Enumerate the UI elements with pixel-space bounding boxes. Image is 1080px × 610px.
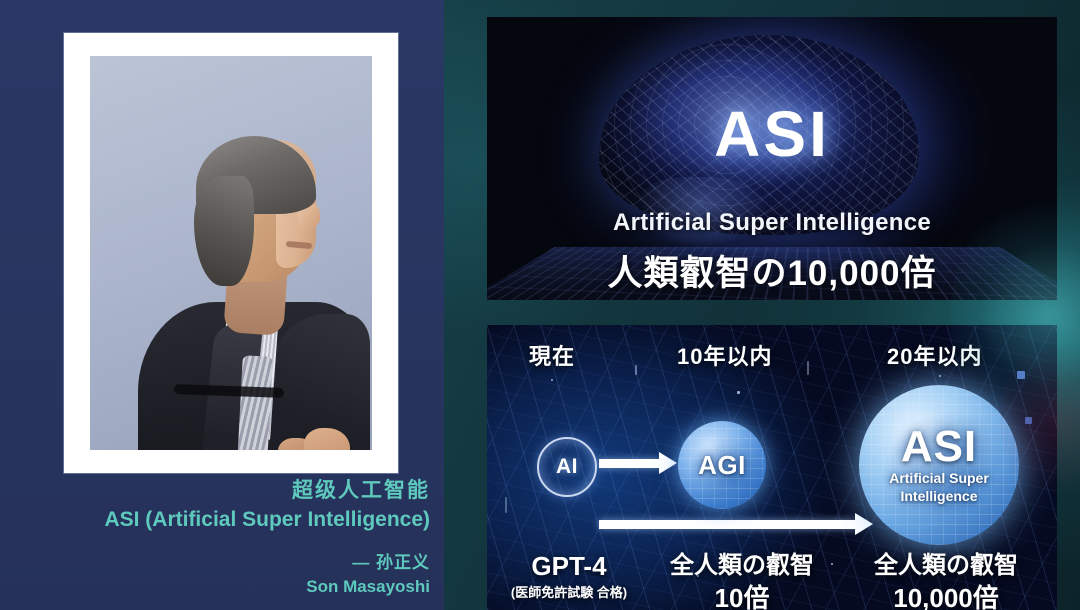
portrait-photo	[90, 56, 372, 450]
timeline-headers: 現在 10年以内 20年以内	[487, 339, 1057, 373]
footer-agi-multiplier: 10倍	[647, 582, 837, 610]
node-ai: AI	[537, 437, 597, 497]
attribution-block: — 孙正义 Son Masayoshi	[0, 551, 444, 598]
slide-canvas: 超级人工智能 ASI (Artificial Super Intelligenc…	[0, 0, 1080, 610]
footer-gpt4-note: (医師免許試験 合格)	[489, 583, 649, 603]
timeline-header-10-years: 10年以内	[677, 339, 772, 371]
node-asi-label: ASI	[901, 425, 977, 469]
caption-english: ASI (Artificial Super Intelligence)	[0, 505, 430, 535]
portrait-frame	[64, 33, 398, 473]
portrait-illustration	[90, 56, 372, 450]
footer-column-asi: 全人類の叡智 10,000倍	[839, 550, 1053, 610]
asi-title: ASI	[487, 97, 1057, 171]
left-quote-panel: 超级人工智能 ASI (Artificial Super Intelligenc…	[0, 0, 444, 610]
caption-block: 超级人工智能 ASI (Artificial Super Intelligenc…	[0, 478, 444, 535]
asi-subtitle-japanese: 人類叡智の10,000倍	[487, 245, 1057, 296]
attribution-chinese: — 孙正义	[0, 551, 430, 575]
node-asi: ASI Artificial Super Intelligence	[859, 385, 1019, 545]
node-asi-sub-line1: Artificial Super	[889, 469, 989, 487]
ai-roadmap-panel: 現在 10年以内 20年以内 AI AGI ASI Artificial Sup…	[487, 325, 1057, 610]
asi-subtitle-english: Artificial Super Intelligence	[487, 209, 1057, 237]
attribution-english: Son Masayoshi	[0, 575, 430, 598]
node-agi-label: AGI	[698, 450, 746, 481]
footer-asi-multiplier: 10,000倍	[839, 582, 1053, 610]
footer-gpt4-title: GPT-4	[489, 550, 649, 582]
node-agi: AGI	[678, 421, 766, 509]
node-ai-label: AI	[556, 455, 578, 479]
footer-column-gpt4: GPT-4 (医師免許試験 合格)	[489, 550, 649, 603]
footer-asi-title: 全人類の叡智	[839, 550, 1053, 582]
timeline-header-20-years: 20年以内	[887, 339, 982, 371]
timeline-header-now: 現在	[529, 339, 575, 371]
asi-brain-panel: ASI Artificial Super Intelligence 人類叡智の1…	[487, 17, 1057, 300]
footer-agi-title: 全人類の叡智	[647, 550, 837, 582]
node-asi-sub-line2: Intelligence	[900, 487, 977, 505]
footer-column-agi: 全人類の叡智 10倍	[647, 550, 837, 610]
arrow-ai-to-agi	[599, 459, 661, 468]
arrow-ai-to-asi	[599, 520, 857, 529]
caption-chinese: 超级人工智能	[0, 478, 430, 504]
